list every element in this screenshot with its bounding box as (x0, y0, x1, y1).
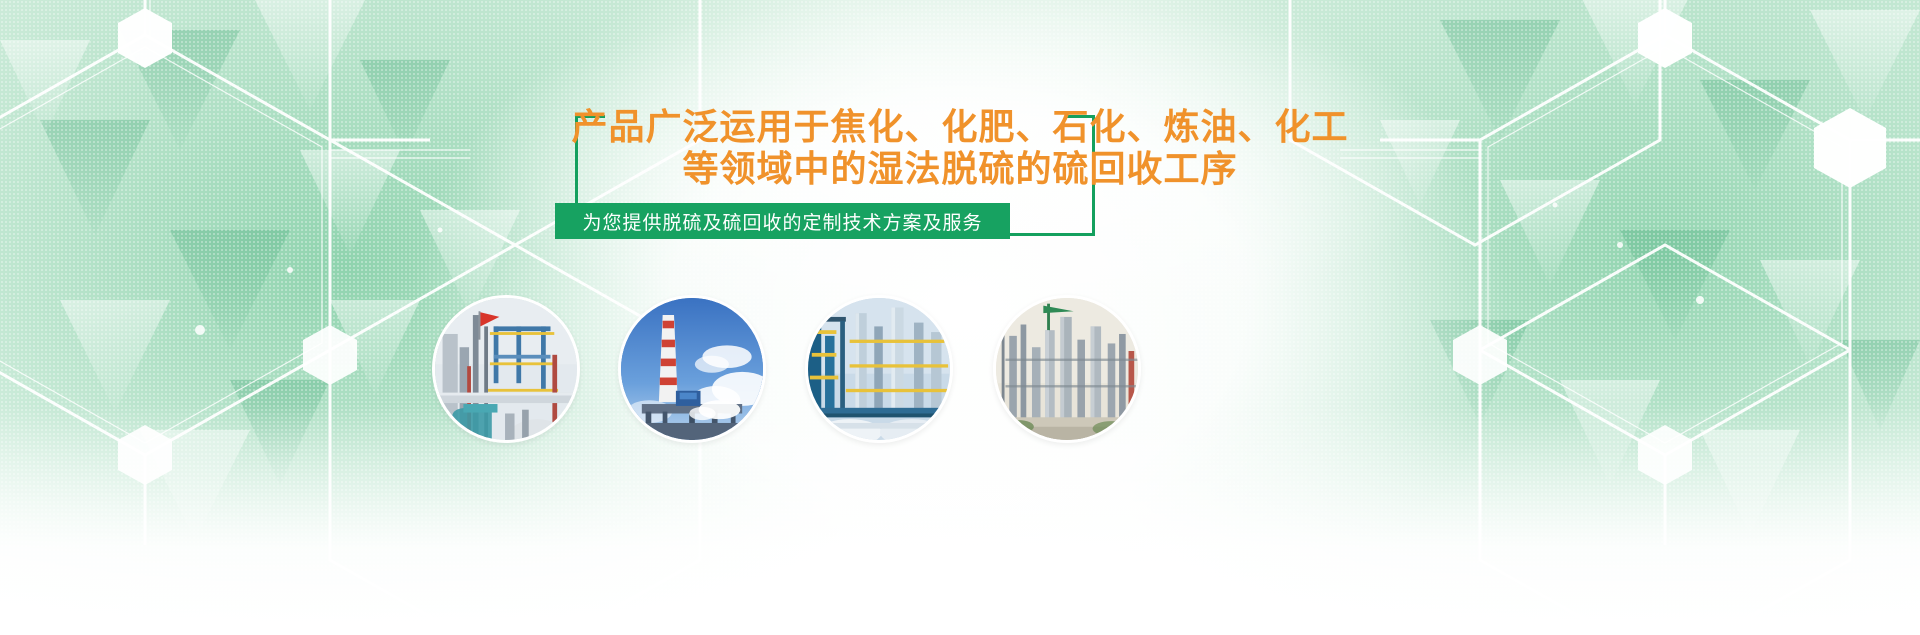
photo-strip (0, 295, 1920, 445)
subtitle-banner: 为您提供脱硫及硫回收的定制技术方案及服务 (555, 203, 1010, 239)
photo-desulfurization-plant[interactable] (432, 295, 580, 443)
subtitle-text: 为您提供脱硫及硫回收的定制技术方案及服务 (582, 208, 982, 235)
headline-text: 产品广泛运用于焦化、化肥、石化、炼油、化工 等领域中的湿法脱硫的硫回收工序 (0, 106, 1920, 190)
headline-line-2: 等领域中的湿法脱硫的硫回收工序 (0, 148, 1920, 190)
photo-chimney-stack[interactable] (618, 295, 766, 443)
photo-sulfur-recovery-unit[interactable] (805, 295, 953, 443)
headline-line-1: 产品广泛运用于焦化、化肥、石化、炼油、化工 (0, 106, 1920, 148)
photo-refinery-towers[interactable] (993, 295, 1141, 443)
banner-stage: 产品广泛运用于焦化、化肥、石化、炼油、化工 等领域中的湿法脱硫的硫回收工序 为您… (0, 0, 1920, 635)
